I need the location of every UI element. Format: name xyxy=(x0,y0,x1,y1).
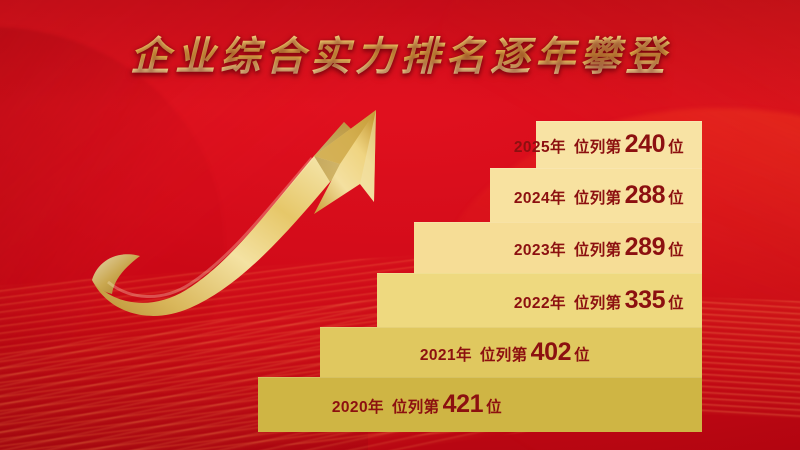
step-label-2020: 2020年 位列第 421 位 xyxy=(332,392,502,417)
step-label-2025: 2025年 位列第 240 位 xyxy=(514,132,684,157)
step-2025[interactable]: 2025年 位列第 240 位 xyxy=(536,121,702,168)
title-container: 企业综合实力排名逐年攀登 xyxy=(0,24,800,82)
step-rank-2020: 421 xyxy=(443,392,484,417)
step-2020[interactable]: 2020年 位列第 421 位 xyxy=(258,377,702,432)
step-label-2021: 2021年 位列第 402 位 xyxy=(420,340,590,365)
poster-canvas: 企业综合实力排名逐年攀登 xyxy=(0,0,800,450)
step-suffix-2021: 位 xyxy=(574,348,590,364)
step-year-2023: 2023年 xyxy=(514,243,566,259)
step-rank-2022: 335 xyxy=(625,288,666,313)
step-prefix-2025: 位列第 xyxy=(574,140,622,156)
page-title: 企业综合实力排名逐年攀登 xyxy=(130,24,670,82)
step-suffix-2024: 位 xyxy=(668,191,684,207)
step-2022[interactable]: 2022年 位列第 335 位 xyxy=(377,273,702,327)
step-prefix-2020: 位列第 xyxy=(392,400,440,416)
step-year-2022: 2022年 xyxy=(514,296,566,312)
step-rank-2023: 289 xyxy=(625,235,666,260)
step-2023[interactable]: 2023年 位列第 289 位 xyxy=(414,222,702,273)
step-prefix-2022: 位列第 xyxy=(574,296,622,312)
step-rank-2021: 402 xyxy=(531,340,572,365)
step-prefix-2023: 位列第 xyxy=(574,243,622,259)
step-year-2024: 2024年 xyxy=(514,191,566,207)
step-label-2024: 2024年 位列第 288 位 xyxy=(514,183,684,208)
step-suffix-2023: 位 xyxy=(668,243,684,259)
step-prefix-2021: 位列第 xyxy=(480,348,528,364)
step-suffix-2022: 位 xyxy=(668,296,684,312)
step-label-2022: 2022年 位列第 335 位 xyxy=(514,288,684,313)
step-prefix-2024: 位列第 xyxy=(574,191,622,207)
step-rank-2025: 240 xyxy=(625,132,666,157)
step-year-2021: 2021年 xyxy=(420,348,472,364)
step-year-2025: 2025年 xyxy=(514,140,566,156)
step-suffix-2025: 位 xyxy=(668,140,684,156)
step-year-2020: 2020年 xyxy=(332,400,384,416)
step-rank-2024: 288 xyxy=(625,183,666,208)
step-label-2023: 2023年 位列第 289 位 xyxy=(514,235,684,260)
step-2024[interactable]: 2024年 位列第 288 位 xyxy=(490,168,702,222)
step-suffix-2020: 位 xyxy=(486,400,502,416)
step-2021[interactable]: 2021年 位列第 402 位 xyxy=(320,327,702,377)
